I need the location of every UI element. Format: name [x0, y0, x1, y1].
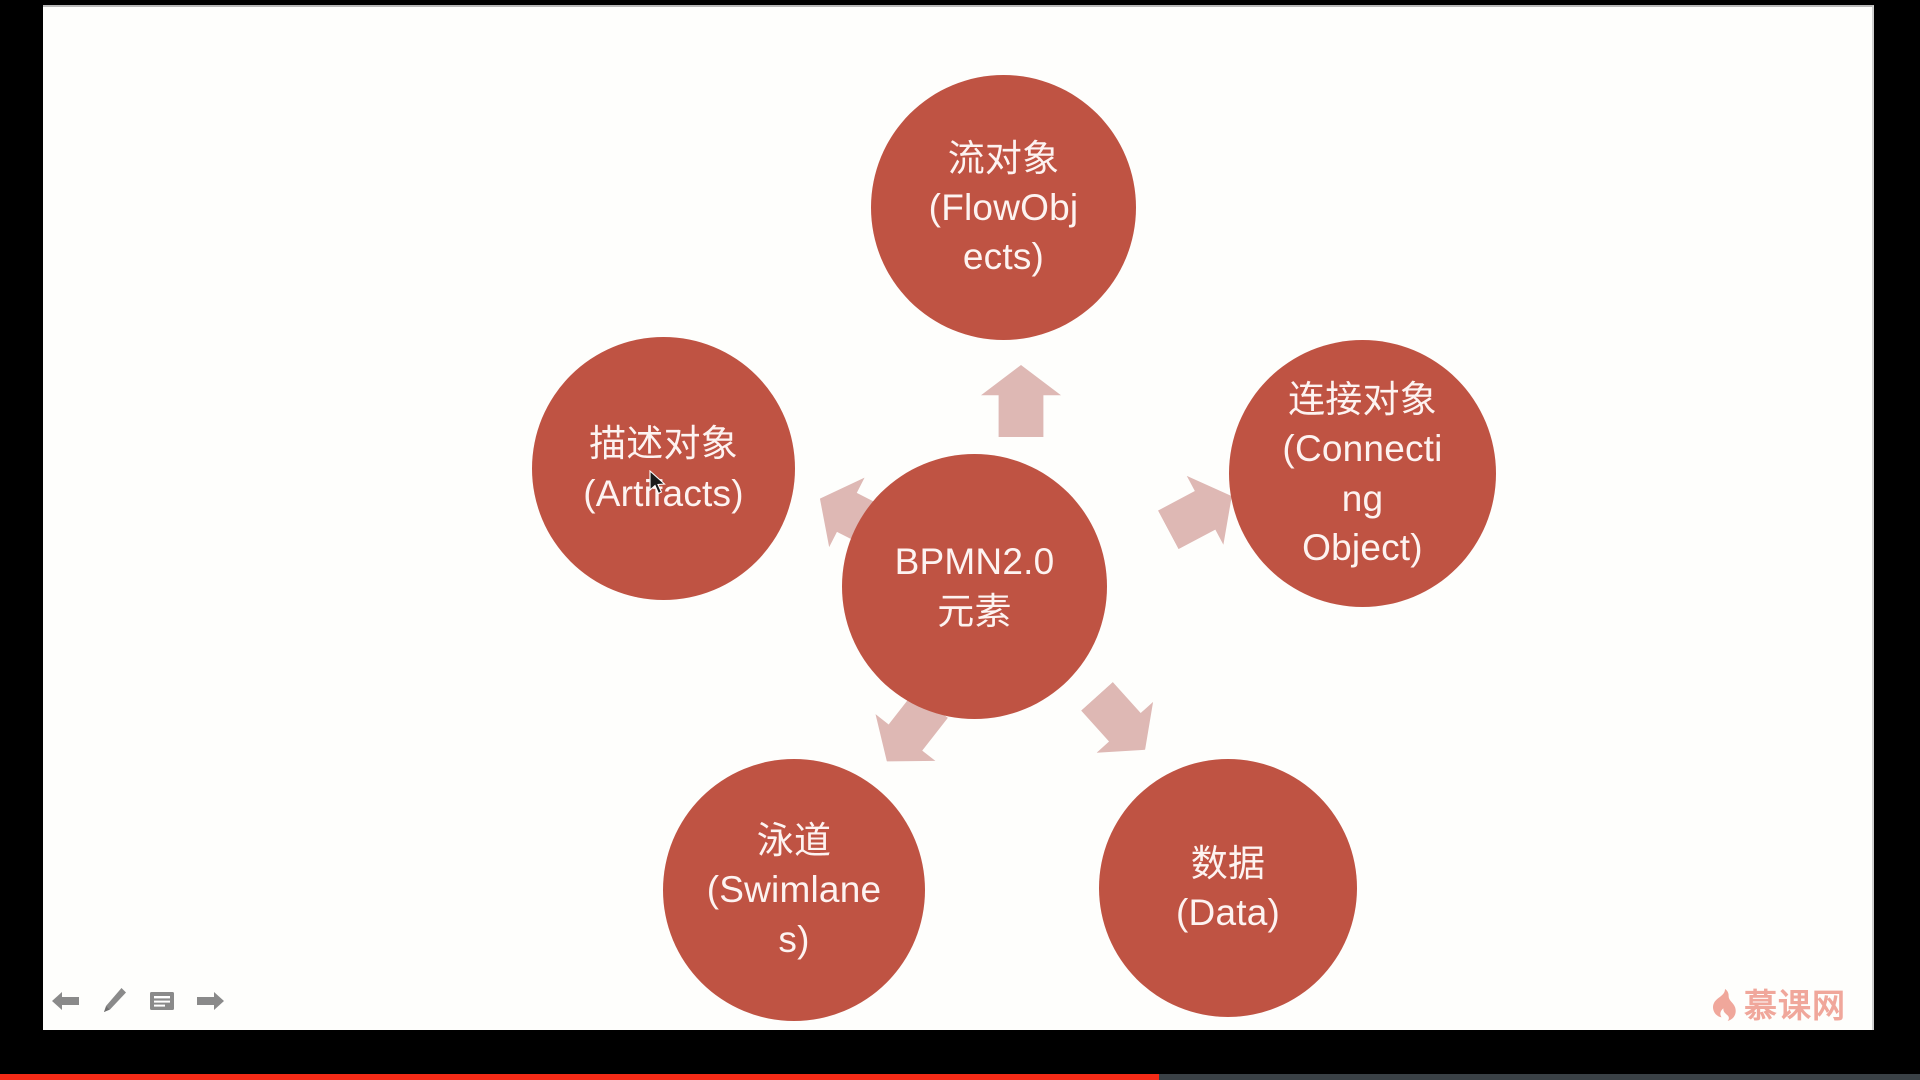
diagram-node-center: BPMN2.0元素 — [842, 454, 1107, 719]
diagram-node-label: 连接对象 (Connecting Object) — [1280, 375, 1446, 572]
diagram-node-data: 数据 (Data) — [1099, 759, 1357, 1017]
next-slide-button[interactable] — [193, 984, 227, 1018]
arrow-right-icon — [195, 988, 225, 1014]
notes-button[interactable] — [145, 984, 179, 1018]
notes-icon — [148, 988, 176, 1014]
slide-canvas: 流对象 (FlowObjects) 连接对象 (Connecting Objec… — [43, 5, 1874, 1030]
flame-icon — [1708, 988, 1738, 1022]
slide-toolbar — [43, 978, 227, 1024]
arrow-left-icon — [51, 988, 81, 1014]
diagram-node-label: 数据 (Data) — [1135, 839, 1321, 937]
draw-button[interactable] — [97, 984, 131, 1018]
diagram-node-label: 流对象 (FlowObjects) — [921, 134, 1085, 282]
diagram-node-flow-objects: 流对象 (FlowObjects) — [871, 75, 1136, 340]
diagram-node-connecting-object: 连接对象 (Connecting Object) — [1229, 340, 1496, 607]
diagram-node-swimlanes: 泳道 (Swimlanes) — [663, 759, 925, 1021]
arrow-lower-right-icon — [1069, 671, 1174, 775]
progress-bar-fill — [0, 1074, 1159, 1080]
previous-slide-button[interactable] — [49, 984, 83, 1018]
progress-bar-track[interactable] — [0, 1074, 1920, 1080]
pencil-icon — [100, 986, 128, 1016]
watermark: 慕课网 — [1708, 988, 1846, 1022]
diagram-center-label: BPMN2.0元素 — [887, 537, 1062, 635]
watermark-text: 慕课网 — [1744, 989, 1846, 1022]
video-player: 流对象 (FlowObjects) 连接对象 (Connecting Objec… — [0, 0, 1920, 1080]
diagram-node-label: 描述对象 (Artifacts) — [561, 419, 766, 517]
diagram-node-label: 泳道 (Swimlanes) — [697, 816, 891, 964]
diagram-node-artifacts: 描述对象 (Artifacts) — [532, 337, 795, 600]
arrow-up-icon — [981, 365, 1061, 437]
